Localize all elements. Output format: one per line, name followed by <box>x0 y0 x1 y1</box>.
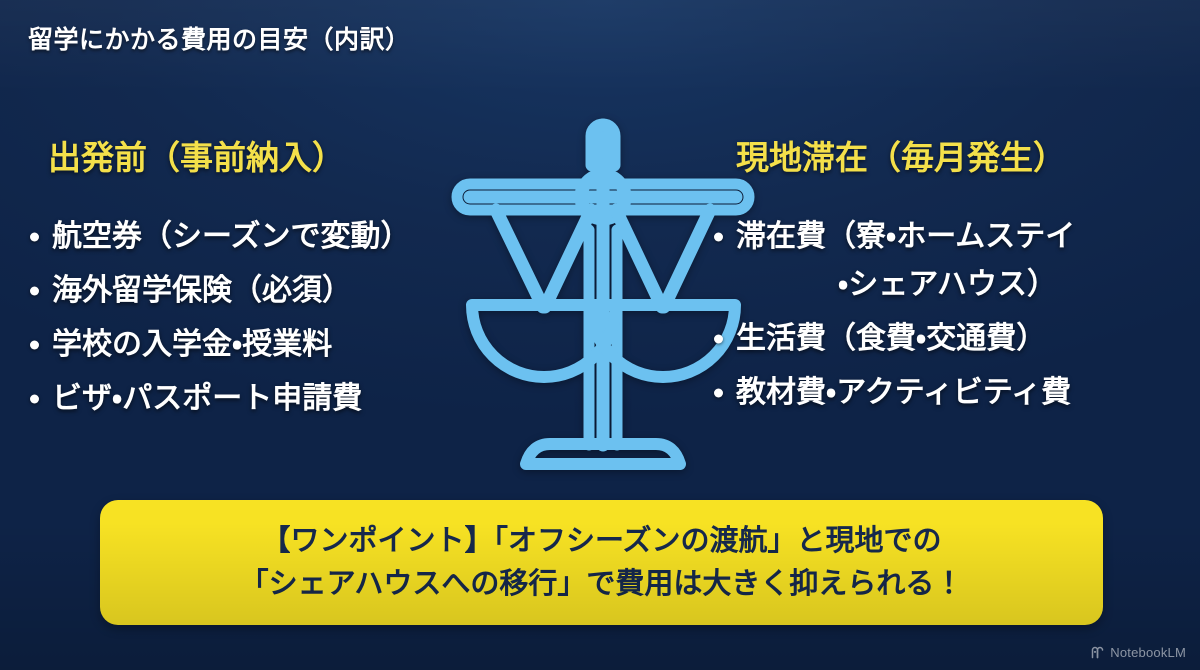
column-heading-left: 出発前（事前納入） <box>48 140 502 176</box>
bullet-dot-icon <box>714 233 723 242</box>
watermark: NotebookLM <box>1090 645 1186 660</box>
bullet-list-right: 滞在費（寮・ホームステイ ・シェアハウス） 生活費（食費・交通費） 教材費・アク… <box>706 222 1196 408</box>
list-item-label: 学校の入学金・授業料 <box>52 328 332 361</box>
list-item: 学校の入学金・授業料 <box>22 330 502 360</box>
page-title: 留学にかかる費用の目安（内訳） <box>28 20 411 56</box>
list-item-label: 生活費（食費・交通費） <box>736 322 1046 355</box>
list-item: 生活費（食費・交通費） <box>706 324 1196 354</box>
list-item-label: 航空券（シーズンで変動） <box>52 220 411 253</box>
list-item-label: ビザ・パスポート申請費 <box>52 382 362 415</box>
bullet-list-left: 航空券（シーズンで変動） 海外留学保険（必須） 学校の入学金・授業料 ビザ・パス… <box>22 222 502 414</box>
notebooklm-logo-icon <box>1090 645 1105 660</box>
callout-line-2: 「シェアハウスへの移行」で費用は大きく抑えられる！ <box>240 563 964 605</box>
list-item: 航空券（シーズンで変動） <box>22 222 502 252</box>
bullet-dot-icon <box>714 389 723 398</box>
list-item: 教材費・アクティビティ費 <box>706 378 1196 408</box>
list-item-continuation: ・シェアハウス） <box>706 270 1196 300</box>
bullet-dot-icon <box>30 341 39 350</box>
bullet-dot-icon <box>30 395 39 404</box>
list-item: ビザ・パスポート申請費 <box>22 384 502 414</box>
column-heading-right: 現地滞在（毎月発生） <box>736 140 1196 176</box>
bullet-dot-icon <box>30 287 39 296</box>
column-pre-departure: 出発前（事前納入） 航空券（シーズンで変動） 海外留学保険（必須） 学校の入学金… <box>22 140 502 438</box>
list-item: 滞在費（寮・ホームステイ <box>706 222 1196 252</box>
list-item-label: 教材費・アクティビティ費 <box>736 376 1071 409</box>
callout-line-1: 【ワンポイント】「オフシーズンの渡航」と現地での <box>261 520 941 562</box>
column-on-site: 現地滞在（毎月発生） 滞在費（寮・ホームステイ ・シェアハウス） 生活費（食費・… <box>706 140 1196 432</box>
list-item: 海外留学保険（必須） <box>22 276 502 306</box>
bullet-dot-icon <box>714 335 723 344</box>
slide-canvas: 留学にかかる費用の目安（内訳） <box>0 0 1200 670</box>
watermark-label: NotebookLM <box>1110 645 1186 660</box>
bullet-dot-icon <box>30 233 39 242</box>
callout-tip-box: 【ワンポイント】「オフシーズンの渡航」と現地での 「シェアハウスへの移行」で費用… <box>100 500 1103 625</box>
list-item-label: 海外留学保険（必須） <box>52 274 352 307</box>
list-item-label: 滞在費（寮・ホームステイ <box>736 220 1075 253</box>
